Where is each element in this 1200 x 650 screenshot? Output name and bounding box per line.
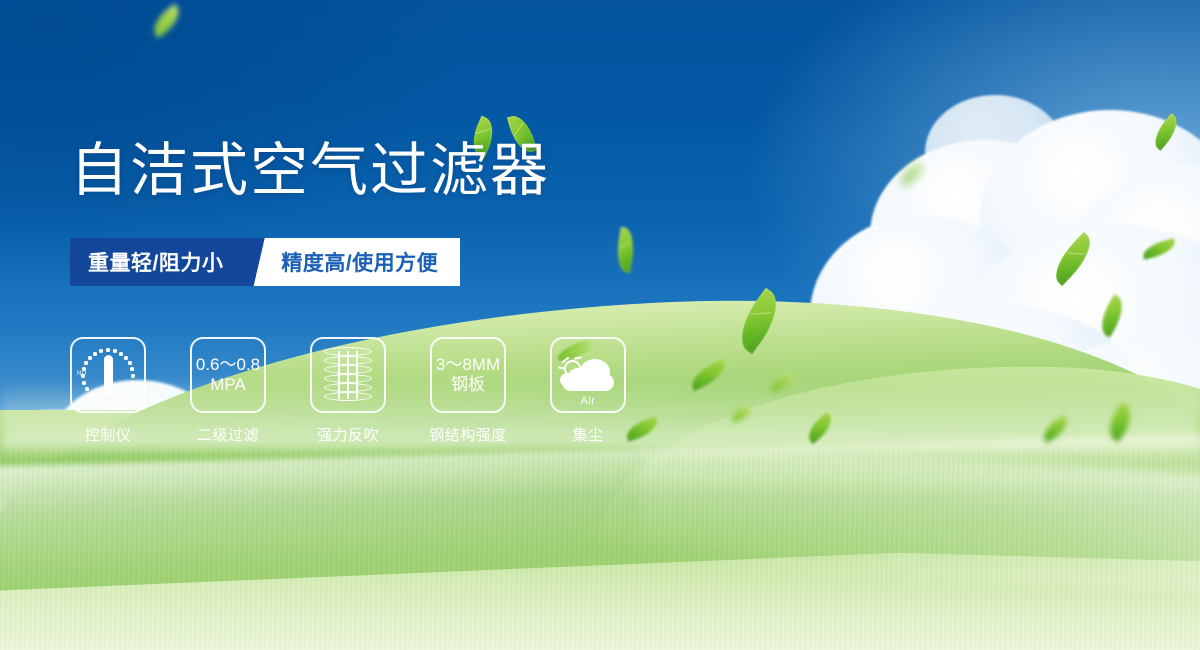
feature-item-control[interactable]: NO OFF 控制仪 xyxy=(70,337,146,445)
control-dial-icon: NO OFF xyxy=(77,346,139,404)
filter-stack-icon xyxy=(324,347,372,403)
pressure-value-line1: 0.6～0.8 xyxy=(196,355,260,375)
feature-label-control: 控制仪 xyxy=(85,424,132,445)
feature-icon-row: NO OFF 控制仪 0.6～0.8 MPA 二级过滤 xyxy=(70,337,626,445)
pressure-value-line2: MPA xyxy=(196,375,260,395)
feature-label-steel: 钢结构强度 xyxy=(429,424,507,445)
feature-box-control[interactable]: NO OFF xyxy=(70,337,146,413)
dial-label-off: OFF xyxy=(126,395,139,401)
air-label: Air xyxy=(558,395,618,407)
steel-value-line2: 钢板 xyxy=(436,375,500,395)
grass-texture-overlay xyxy=(0,450,1200,650)
subtitle-bar: 重量轻/阻力小 精度高/使用方便 xyxy=(70,238,460,286)
feature-item-steel[interactable]: 3～8MM 钢板 钢结构强度 xyxy=(430,337,506,445)
steel-value-line1: 3～8MM xyxy=(436,355,500,375)
cloud-air-icon: Air xyxy=(558,351,618,399)
feature-label-dust: 集尘 xyxy=(572,424,603,445)
feature-label-backblow: 强力反吹 xyxy=(317,424,379,445)
feature-item-filtration[interactable]: 0.6～0.8 MPA 二级过滤 xyxy=(190,337,266,445)
dial-pointer-icon xyxy=(104,355,113,395)
feature-item-backblow[interactable]: 强力反吹 xyxy=(310,337,386,445)
subtitle-left-segment: 重量轻/阻力小 xyxy=(70,238,245,286)
steel-plate-text-icon: 3～8MM 钢板 xyxy=(436,355,500,395)
feature-box-filtration[interactable]: 0.6～0.8 MPA xyxy=(190,337,266,413)
subtitle-divider-slash xyxy=(245,238,275,286)
dial-label-on: NO xyxy=(77,371,87,377)
feature-item-dust[interactable]: Air 集尘 xyxy=(550,337,626,445)
page-title: 自洁式空气过滤器 xyxy=(70,142,550,200)
feature-label-filtration: 二级过滤 xyxy=(197,424,259,445)
feature-box-steel[interactable]: 3～8MM 钢板 xyxy=(430,337,506,413)
subtitle-right-segment: 精度高/使用方便 xyxy=(275,238,460,286)
feature-box-dust[interactable]: Air xyxy=(550,337,626,413)
pressure-text-icon: 0.6～0.8 MPA xyxy=(196,355,260,395)
product-hero-banner: 自洁式空气过滤器 重量轻/阻力小 精度高/使用方便 xyxy=(0,0,1200,650)
feature-box-backblow[interactable] xyxy=(310,337,386,413)
